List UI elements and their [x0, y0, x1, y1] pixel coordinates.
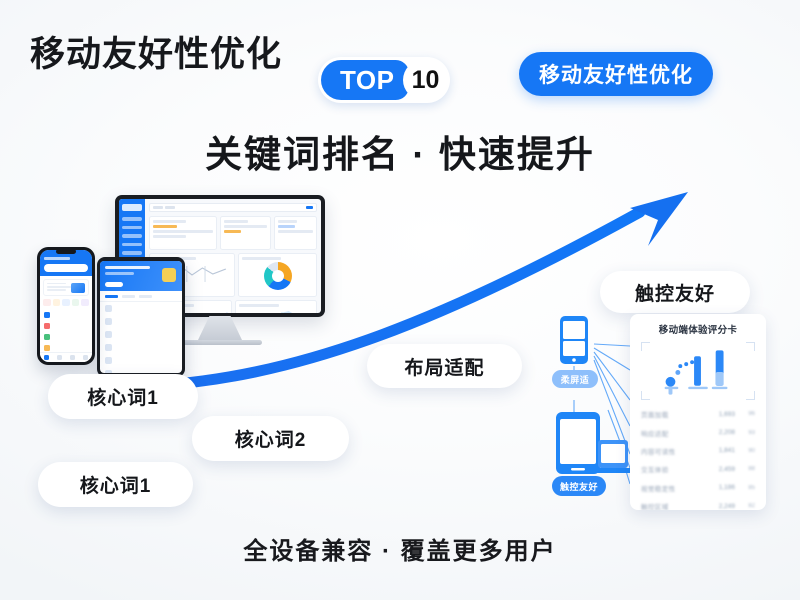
phone-screen: [40, 250, 92, 362]
table-row: 页面加载 1,693 96: [639, 405, 757, 423]
monitor-base: [178, 340, 262, 345]
device-mockups: [25, 195, 335, 375]
score-card-rows: 页面加载 1,693 96 响应适配 2,208 93 内容可读性 1,841 …: [639, 405, 757, 510]
tablet-mockup: [97, 257, 185, 377]
phone-large-icon: [556, 412, 600, 474]
mobile-experience-diagram: 柔屏适 触控友好 移动端体验评分卡: [548, 308, 788, 513]
phone-notch: [56, 249, 76, 254]
keyword-pill-3[interactable]: 核心词1: [38, 462, 193, 507]
top-badge-number: 10: [403, 60, 447, 100]
monitor-stand: [198, 316, 242, 340]
list-item: [100, 302, 182, 315]
footer-caption: 全设备兼容 · 覆盖更多用户: [0, 531, 800, 566]
score-card-chart: [641, 342, 755, 400]
keyword-pill-layout[interactable]: 布局适配: [367, 344, 522, 388]
dashboard-chart-donut: [238, 253, 317, 297]
dashboard-topbar: [149, 203, 317, 212]
table-row: 内容可读性 1,841 90: [639, 442, 757, 460]
result-card: [43, 279, 89, 297]
poster-canvas: 移动友好性优化 TOP 10 移动友好性优化 关键词排名 · 快速提升: [0, 0, 800, 600]
list-item: [100, 341, 182, 354]
keyword-pill-2[interactable]: 核心词2: [192, 416, 349, 461]
phone-small-icon: [560, 316, 588, 364]
diagram-pill-touch: 触控友好: [552, 476, 606, 496]
list-item: [40, 331, 92, 342]
table-row: 响应适配 2,208 93: [639, 423, 757, 441]
list-item: [100, 315, 182, 328]
tablet-screen: [100, 261, 182, 373]
table-row: 触控区域 2,249 82: [639, 497, 757, 510]
list-item: [100, 328, 182, 341]
table-row: 视觉稳定性 1,186 85: [639, 479, 757, 497]
list-item: [40, 320, 92, 331]
phone-mockup: [37, 247, 95, 365]
page-title: 移动友好性优化: [30, 26, 282, 77]
list-item: [100, 354, 182, 367]
category-chips: [40, 299, 92, 309]
keyword-pill-touch[interactable]: 触控友好: [600, 271, 750, 313]
tablet-tabs: [100, 291, 182, 302]
banner-icon: [162, 268, 176, 282]
laptop-icon: [592, 440, 634, 473]
dashboard-card: [149, 216, 217, 250]
top-badge-label: TOP: [321, 60, 409, 100]
dashboard-chart-area: [235, 300, 318, 313]
table-row: 交互体验 2,459 88: [639, 460, 757, 478]
score-card-title: 移动端体验评分卡: [639, 322, 757, 336]
header-tag-pill: 移动友好性优化: [519, 52, 713, 96]
dashboard-card: [220, 216, 270, 250]
search-input[interactable]: [44, 264, 88, 272]
diagram-pill-screen: 柔屏适: [552, 370, 598, 388]
phone-tabbar[interactable]: [40, 352, 92, 362]
thumbnail-image: [71, 283, 85, 293]
list-item: [100, 367, 182, 373]
keyword-pill-1[interactable]: 核心词1: [48, 374, 198, 419]
tablet-banner: [100, 261, 182, 291]
dashboard-card: [274, 216, 317, 250]
score-card: 移动端体验评分卡: [630, 314, 766, 510]
top-rank-badge: TOP 10: [318, 57, 450, 103]
list-item: [40, 309, 92, 320]
donut-chart: [264, 262, 292, 290]
